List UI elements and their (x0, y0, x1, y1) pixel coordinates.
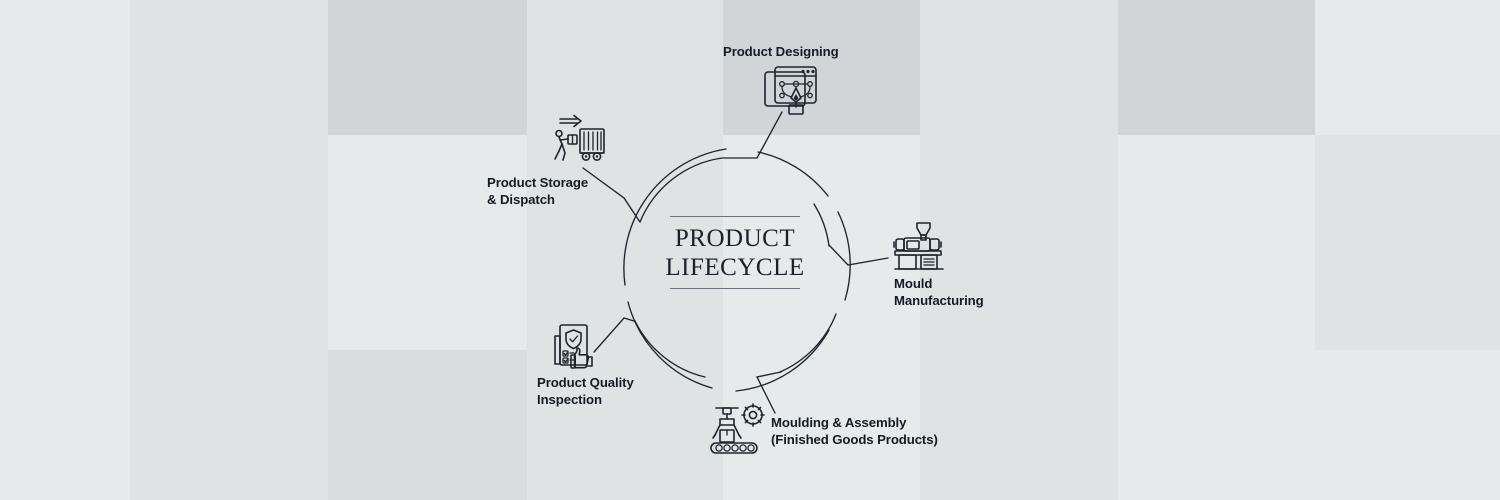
node-label-moulding-assembly: Moulding & Assembly (Finished Goods Prod… (771, 415, 938, 449)
conveyor-press-gear-icon (708, 402, 768, 456)
diagram-canvas: PRODUCT LIFECYCLE Product Designing Mo (0, 0, 1500, 500)
injection-moulding-machine-icon (891, 220, 949, 276)
cycle-connectors (583, 112, 888, 413)
worker-loading-truck-icon (550, 113, 608, 165)
cycle-outer-ring (624, 149, 850, 391)
cycle-inner-arcs (635, 158, 836, 377)
design-window-pen-tool-icon (762, 64, 820, 118)
node-label-mould-manufacturing: Mould Manufacturing (894, 276, 984, 310)
node-label-product-storage-dispatch: Product Storage & Dispatch (487, 175, 588, 209)
node-label-product-designing: Product Designing (723, 44, 839, 61)
clipboard-shield-thumbsup-icon (547, 322, 599, 372)
node-label-product-quality-inspection: Product Quality Inspection (537, 375, 634, 409)
